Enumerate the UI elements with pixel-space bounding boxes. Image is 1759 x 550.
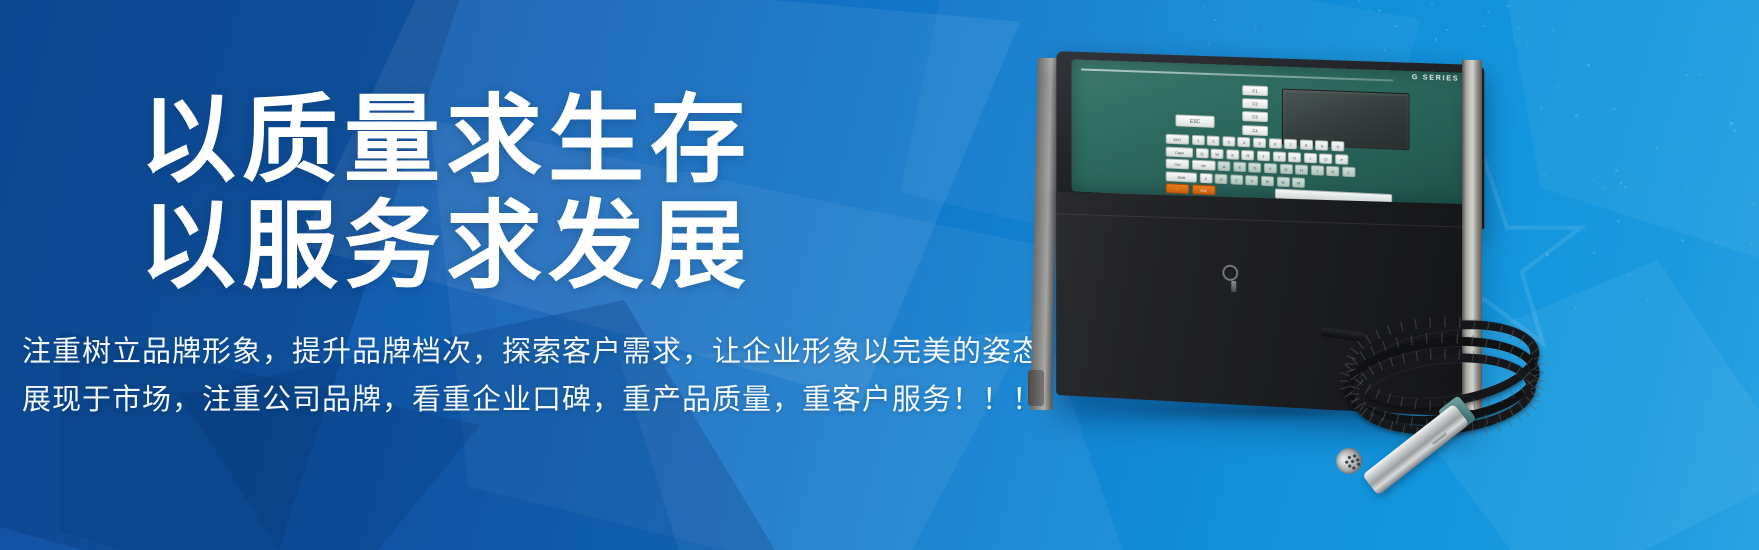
sparkle-dot bbox=[1587, 64, 1590, 67]
nozzle-orifice-plate bbox=[1341, 453, 1358, 470]
key-o[interactable]: O bbox=[1319, 153, 1332, 164]
function-key-column[interactable]: F1F2F3F4 bbox=[1242, 85, 1268, 139]
key-m[interactable]: M bbox=[1292, 177, 1305, 188]
sparkle-dot bbox=[1645, 183, 1646, 184]
sparkle-dot bbox=[1604, 188, 1605, 189]
panel-brand-label: G SERIES bbox=[1412, 74, 1459, 83]
sparkle-dot bbox=[1593, 179, 1595, 181]
sparkle-dot bbox=[1255, 28, 1257, 30]
key-e[interactable]: E bbox=[1226, 149, 1239, 160]
key-k[interactable]: K bbox=[1326, 166, 1339, 177]
headline-line-1: 以质量求生存 bbox=[140, 88, 960, 194]
sparkle-dot bbox=[1681, 239, 1684, 242]
key-shift[interactable]: Shift bbox=[1166, 171, 1197, 182]
function-key-f3[interactable]: F3 bbox=[1242, 111, 1268, 122]
function-key-f2[interactable]: F2 bbox=[1242, 98, 1268, 109]
sparkle-dot bbox=[1220, 26, 1221, 27]
key-q[interactable]: Q bbox=[1196, 147, 1209, 157]
key-1[interactable]: 1 bbox=[1192, 135, 1205, 145]
key-f[interactable]: F bbox=[1264, 163, 1277, 174]
sparkle-dot bbox=[1214, 19, 1216, 21]
key-alt[interactable]: Alt bbox=[1192, 160, 1216, 171]
sparkle-dot bbox=[1465, 30, 1466, 31]
panel-top-rule bbox=[1081, 68, 1393, 81]
printer-left-foot bbox=[1028, 370, 1044, 406]
nozzle-orifice bbox=[1350, 460, 1354, 464]
cabinet-latch[interactable] bbox=[1222, 265, 1244, 292]
latch-stem bbox=[1231, 281, 1236, 292]
sparkle-dot bbox=[1591, 245, 1593, 247]
key-caps[interactable]: Caps bbox=[1166, 146, 1193, 157]
sparkle-dot bbox=[1646, 298, 1649, 301]
key-p[interactable]: P bbox=[1335, 154, 1348, 165]
esc-key[interactable]: ESC bbox=[1175, 114, 1214, 128]
sparkle-dot bbox=[1692, 27, 1693, 28]
sparkle-dot bbox=[1378, 9, 1381, 12]
sparkle-dot bbox=[1613, 108, 1615, 110]
sparkle-dot bbox=[1487, 11, 1490, 14]
printhead-barrel bbox=[1362, 404, 1469, 496]
latch-ring-icon bbox=[1222, 265, 1238, 282]
sparkle-dot bbox=[1669, 144, 1671, 146]
sparkle-dot bbox=[1707, 192, 1709, 194]
key-0[interactable]: 0 bbox=[1331, 141, 1344, 152]
sparkle-dot bbox=[1716, 241, 1718, 243]
sparkle-dot bbox=[1747, 199, 1748, 200]
key-w[interactable]: W bbox=[1211, 148, 1224, 159]
sparkle-dot bbox=[1607, 272, 1608, 273]
sparkle-dot bbox=[1369, 9, 1370, 10]
sparkle-dot bbox=[1431, 3, 1433, 5]
key-n[interactable]: N bbox=[1277, 176, 1290, 187]
key-r[interactable]: R bbox=[1242, 150, 1255, 161]
key-i[interactable]: I bbox=[1304, 152, 1317, 163]
printhead-nozzle bbox=[1332, 392, 1492, 484]
key-t[interactable]: T bbox=[1257, 150, 1270, 161]
key-8[interactable]: 8 bbox=[1300, 139, 1313, 150]
key-x[interactable]: X bbox=[1215, 173, 1228, 184]
sparkle-dot bbox=[1643, 287, 1644, 288]
key-ctrl[interactable]: Ctrl bbox=[1166, 159, 1189, 170]
key-6[interactable]: 6 bbox=[1269, 138, 1282, 149]
key-l[interactable]: L bbox=[1342, 167, 1355, 178]
sparkle-dot bbox=[1414, 28, 1416, 30]
key-4[interactable]: 4 bbox=[1238, 137, 1251, 148]
sparkle-dot bbox=[1485, 25, 1487, 27]
sparkle-dot bbox=[1640, 317, 1641, 318]
nozzle-orifice bbox=[1352, 454, 1356, 458]
key-ent[interactable]: ENT bbox=[1166, 134, 1189, 145]
key-b[interactable]: B bbox=[1261, 176, 1274, 187]
key-u[interactable]: U bbox=[1288, 152, 1301, 163]
sparkle-dot bbox=[1517, 27, 1520, 30]
sparkle-dot bbox=[1750, 243, 1753, 246]
sparkle-dot bbox=[1730, 77, 1731, 78]
nozzle-orifice bbox=[1345, 460, 1349, 464]
subtitle-line-2: 展现于市场，注重公司品牌，看重企业口碑，重产品质量，重客户服务！！！ bbox=[22, 376, 982, 424]
subtitle-block: 注重树立品牌形象，提升品牌档次，探索客户需求，让企业形象以完美的姿态 展现于市场… bbox=[22, 328, 982, 424]
sparkle-dot bbox=[1735, 2, 1736, 3]
sparkle-dot bbox=[1507, 5, 1509, 7]
key-j[interactable]: J bbox=[1311, 165, 1324, 176]
sparkle-dot bbox=[1358, 0, 1360, 2]
key-v[interactable]: V bbox=[1246, 175, 1259, 186]
sparkle-dot bbox=[1430, 28, 1433, 31]
sparkle-dot bbox=[1620, 182, 1623, 185]
sparkle-dot bbox=[1727, 29, 1729, 31]
promotional-banner: 以质量求生存 以服务求发展 注重树立品牌形象，提升品牌档次，探索客户需求，让企业… bbox=[0, 0, 1759, 550]
key-up[interactable]: ↑ bbox=[1166, 184, 1189, 195]
sparkle-dot bbox=[1593, 252, 1595, 254]
headline-line-2: 以服务求发展 bbox=[140, 194, 960, 300]
key-9[interactable]: 9 bbox=[1315, 140, 1328, 151]
sparkle-dot bbox=[1203, 6, 1205, 8]
key-a[interactable]: A bbox=[1218, 161, 1231, 172]
sparkle-dot bbox=[1575, 114, 1578, 117]
cabinet-seam bbox=[1056, 213, 1474, 228]
sparkle-dot bbox=[1395, 25, 1397, 27]
sparkle-dot bbox=[1383, 33, 1384, 34]
sparkle-dot bbox=[1446, 29, 1448, 31]
printer-control-panel: G SERIES F1F2F3F4 ESC ENT1234567890CapsQ… bbox=[1072, 59, 1470, 211]
key-z[interactable]: Z bbox=[1199, 173, 1212, 184]
key-c[interactable]: C bbox=[1230, 174, 1243, 185]
key-y[interactable]: Y bbox=[1273, 151, 1286, 162]
sparkle-dot bbox=[1289, 30, 1290, 31]
key-2[interactable]: 2 bbox=[1207, 135, 1220, 145]
banner-copy: 以质量求生存 以服务求发展 注重树立品牌形象，提升品牌档次，探索客户需求，让企业… bbox=[0, 0, 1000, 550]
product-image-inkjet-printer: G SERIES F1F2F3F4 ESC ENT1234567890CapsQ… bbox=[1010, 40, 1570, 510]
sparkle-dot bbox=[1617, 220, 1620, 223]
key-3[interactable]: 3 bbox=[1222, 136, 1235, 147]
sparkle-dot bbox=[1733, 129, 1736, 132]
sparkle-dot bbox=[1624, 186, 1626, 188]
key-h[interactable]: H bbox=[1295, 165, 1308, 176]
sparkle-dot bbox=[1741, 284, 1743, 286]
sparkle-dot bbox=[1694, 151, 1695, 152]
sparkle-dot bbox=[1552, 29, 1554, 31]
sparkle-dot bbox=[1687, 188, 1689, 190]
key-5[interactable]: 5 bbox=[1253, 137, 1266, 148]
nozzle-orifice bbox=[1352, 466, 1356, 470]
sparkle-dot bbox=[1656, 147, 1658, 149]
sparkle-dot bbox=[1699, 73, 1702, 76]
sparkle-dot bbox=[1628, 275, 1629, 276]
sparkle-dot bbox=[1753, 203, 1755, 205]
sparkle-dot bbox=[1686, 74, 1688, 76]
sparkle-dot bbox=[1751, 143, 1752, 144]
printhead-tip bbox=[1331, 443, 1367, 479]
key-s[interactable]: S bbox=[1233, 162, 1246, 173]
subtitle-line-1: 注重树立品牌形象，提升品牌档次，探索客户需求，让企业形象以完美的姿态 bbox=[22, 328, 982, 376]
nozzle-orifice bbox=[1347, 456, 1351, 460]
function-key-f1[interactable]: F1 bbox=[1242, 85, 1268, 96]
key-d[interactable]: D bbox=[1249, 162, 1262, 173]
function-key-f4[interactable]: F4 bbox=[1242, 125, 1268, 136]
headline-block: 以质量求生存 以服务求发展 bbox=[140, 88, 960, 300]
key-7[interactable]: 7 bbox=[1284, 139, 1297, 150]
sparkle-dot bbox=[1615, 169, 1618, 172]
sparkle-dot bbox=[1683, 141, 1685, 143]
nozzle-orifice bbox=[1356, 458, 1360, 462]
key-ent[interactable]: Ent bbox=[1192, 185, 1216, 196]
key-g[interactable]: G bbox=[1280, 164, 1293, 175]
nozzle-orifice bbox=[1356, 462, 1360, 466]
sparkle-dot bbox=[1730, 122, 1733, 125]
sparkle-dot bbox=[1664, 270, 1666, 272]
sparkle-dot bbox=[1513, 37, 1515, 39]
